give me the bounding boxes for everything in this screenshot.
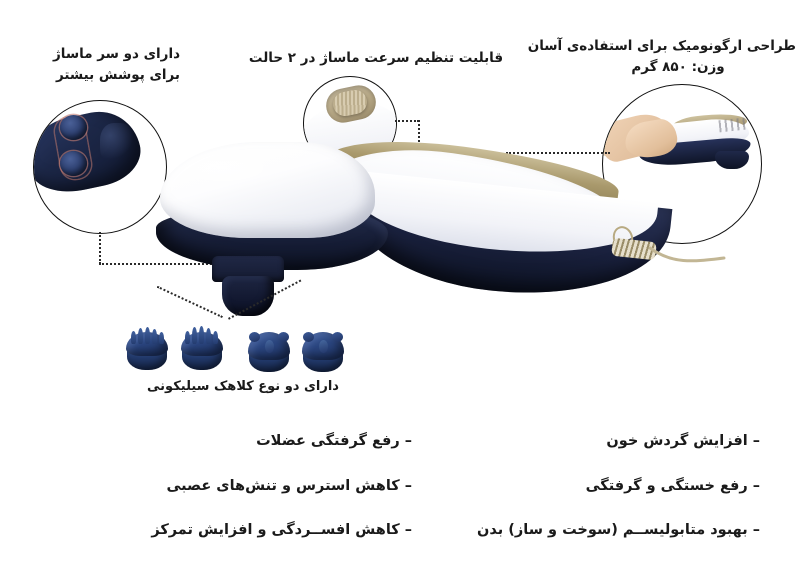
massage-node-lower <box>60 151 87 176</box>
cap-ear <box>332 332 343 342</box>
leader-left-vertical <box>99 232 101 264</box>
benefit-item: – رفع خستگی و گرفتگی <box>430 479 760 494</box>
cap-spike <box>159 332 164 344</box>
cap-spike <box>152 329 157 344</box>
grip-device-head <box>715 151 749 169</box>
cap-spiky-1 <box>124 326 170 370</box>
benefit-item: – رفع گرفتگی عضلات <box>102 434 412 449</box>
benefit-item: – افزایش گردش خون <box>430 434 760 449</box>
benefits-right-column: – افزایش گردش خون – رفع خستگی و گرفتگی –… <box>430 434 760 538</box>
product-attachment-boss <box>222 276 274 316</box>
cap-spike <box>199 326 204 344</box>
callout-caps-line1: دارای دو نوع کلاهک سیلیکونی <box>128 377 358 397</box>
cap-spiky-2 <box>179 326 225 370</box>
cap-ear <box>303 332 314 342</box>
dual-head-texture <box>100 123 134 165</box>
cap-spike <box>138 328 143 344</box>
cap-ear <box>278 332 289 342</box>
callout-left-line2: برای پوشش بیشتر <box>40 65 180 86</box>
product-head-white <box>160 142 375 238</box>
callout-center-text: قابلیت تنظیم سرعت ماساژ در ۲ حالت <box>248 48 504 69</box>
cap-spike <box>192 327 197 344</box>
callout-center-line1: قابلیت تنظیم سرعت ماساژ در ۲ حالت <box>248 48 504 69</box>
leader-center-horizontal <box>395 120 419 122</box>
benefit-item: – بهبود متابولیســم (سوخت و ساز) بدن <box>430 523 760 538</box>
infographic-canvas: دارای دو سر ماساژ برای پوشش بیشتر قابلیت… <box>0 0 800 576</box>
callout-right-line1: طراحی ارگونومیک برای استفاده‌ی آسان <box>560 36 796 57</box>
cap-spike <box>185 331 190 344</box>
callout-caps-text: دارای دو نوع کلاهک سیلیکونی <box>128 377 358 397</box>
benefit-item: – کاهش افســردگی و افزایش تمرکز <box>102 523 412 538</box>
cap-spike <box>213 331 218 344</box>
cap-smooth-2 <box>300 328 346 372</box>
cap-center-nub <box>319 340 328 353</box>
callout-right-text: طراحی ارگونومیک برای استفاده‌ی آسان وزن:… <box>560 36 796 78</box>
massager-product-image <box>150 130 630 310</box>
callout-left-line1: دارای دو سر ماساژ <box>40 44 180 65</box>
callout-left-text: دارای دو سر ماساژ برای پوشش بیشتر <box>40 44 180 86</box>
cap-spike <box>206 328 211 344</box>
cap-center-nub <box>265 340 274 353</box>
cap-smooth-1 <box>246 328 292 372</box>
callout-right-line2: وزن: ۸۵۰ گرم <box>560 57 796 78</box>
product-power-cord <box>648 234 738 274</box>
cap-spike <box>131 331 136 344</box>
callout-circle-dual-head <box>33 100 167 234</box>
massage-node-upper <box>60 115 87 140</box>
benefits-left-column: – رفع گرفتگی عضلات – کاهش استرس و تنش‌ها… <box>102 434 412 538</box>
silicone-caps-group <box>124 318 344 374</box>
cap-spike <box>145 327 150 344</box>
benefit-item: – کاهش استرس و تنش‌های عصبی <box>102 479 412 494</box>
cap-ear <box>249 332 260 342</box>
